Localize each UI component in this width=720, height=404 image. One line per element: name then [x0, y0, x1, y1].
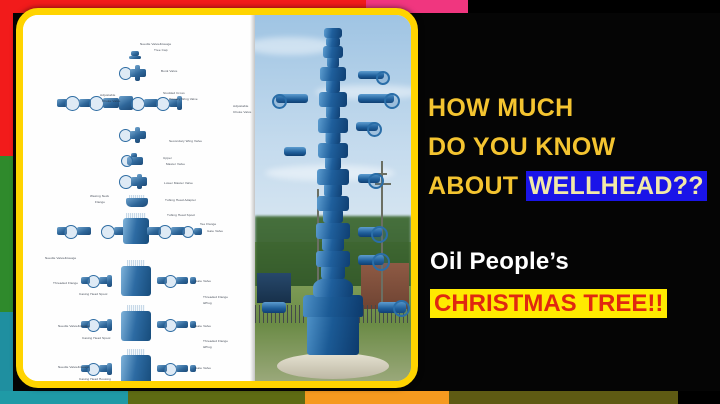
- band-bottom-olive: [128, 391, 308, 404]
- diagram-label: Tubing Head Adapter: [165, 199, 196, 203]
- diagram-label: Master Valve: [166, 163, 185, 167]
- subline-christmas-tree: CHRISTMAS TREE!!: [430, 290, 667, 318]
- diagram-label: Needle Valve&Gauge: [140, 43, 171, 47]
- diagram-label: Needle Valve&Gauge: [58, 325, 89, 329]
- headline-line-1: HOW MUCH: [428, 94, 573, 123]
- diagram-label: Primary Wing Valve: [169, 98, 198, 102]
- diagram-label: Threaded Flange: [203, 384, 228, 388]
- diagram-label: Choke Valve: [102, 100, 120, 104]
- diagram-label: Gate Valve: [195, 367, 211, 371]
- wellhead-photograph: [255, 15, 411, 381]
- diagram-label: Adjustable: [100, 94, 115, 98]
- diagram-label: Tubing Head Spool: [167, 214, 195, 218]
- subline-oil-people: Oil People’s: [430, 248, 569, 276]
- diagram-label: &Plug: [203, 302, 212, 306]
- diagram-label: Upper: [163, 157, 172, 161]
- diagram-label: Lower Master Valve: [164, 182, 193, 186]
- band-left-red: [0, 0, 13, 160]
- image-frame: Needle Valve&GaugeTree CapBonk ValveStud…: [16, 8, 418, 388]
- diagram-label: Adjustable: [233, 105, 248, 109]
- diagram-label: Threaded Flange: [203, 296, 228, 300]
- diagram-label: Tee Flange: [200, 223, 216, 227]
- headline-block: HOW MUCH DO YOU KNOW ABOUT WELLHEAD?? Oi…: [428, 0, 720, 404]
- thumbnail-canvas: Needle Valve&GaugeTree CapBonk ValveStud…: [0, 0, 720, 404]
- diagram-label: Gate Valve: [195, 325, 211, 329]
- diagram-label: Gate Valve: [195, 280, 211, 284]
- diagram-label: Threaded Flange: [203, 340, 228, 344]
- diagram-label: Threaded Flange: [53, 282, 78, 286]
- diagram-label: Flange: [95, 201, 105, 205]
- diagram-label: Needle Valve&Gauge: [58, 366, 89, 370]
- headline-line-2: DO YOU KNOW: [428, 133, 616, 162]
- diagram-label: Gate Valve: [207, 230, 223, 234]
- wellhead-schematic-diagram: Needle Valve&GaugeTree CapBonk ValveStud…: [23, 15, 255, 381]
- diagram-label: Casing Head Housing: [79, 378, 111, 382]
- headline-line-3-prefix: ABOUT: [428, 172, 526, 200]
- christmas-tree-assembly: [258, 15, 408, 355]
- headline-highlight-wellhead: WELLHEAD??: [526, 171, 707, 201]
- diagram-label: Tree Cap: [154, 49, 168, 53]
- concrete-pad: [277, 353, 389, 379]
- band-bottom-teal: [0, 391, 132, 404]
- diagram-label: Casing Head Spool: [79, 293, 107, 297]
- diagram-label: &Plug: [203, 346, 212, 350]
- subline-highlight-christmas-tree: CHRISTMAS TREE!!: [430, 289, 667, 318]
- diagram-label: Bonk Valve: [161, 70, 177, 74]
- diagram-label: Casing Head Spool: [82, 337, 110, 341]
- diagram-label: Choke Valve: [233, 111, 251, 115]
- diagram-label: Waxing Neck: [90, 195, 109, 199]
- band-left-green: [0, 156, 13, 316]
- headline-line-3: ABOUT WELLHEAD??: [428, 172, 707, 201]
- diagram-label: Studded Cross: [163, 92, 185, 96]
- diagram-label: Secondary Wing Valve: [169, 140, 202, 144]
- diagram-label: Needle Valve&Gauge: [45, 257, 76, 261]
